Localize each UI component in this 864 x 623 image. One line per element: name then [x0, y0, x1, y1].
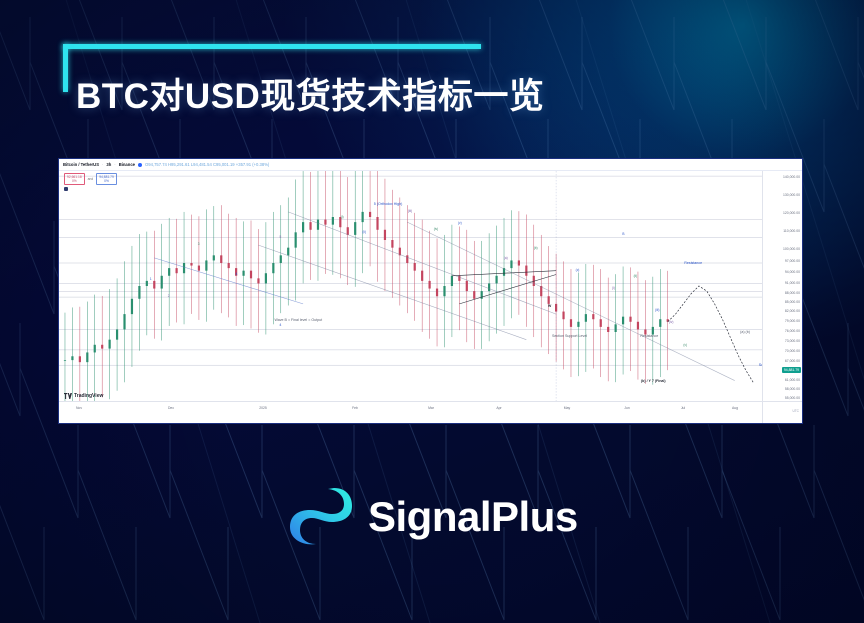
signalplus-logo-icon [288, 486, 354, 548]
time-tick: Dec [168, 406, 174, 410]
price-tick: 79,000.00 [785, 319, 800, 323]
price-tick: 82,000.00 [785, 309, 800, 313]
title-accent-vertical [63, 44, 68, 92]
price-tick: 91,000.00 [785, 281, 800, 285]
elliott-wave-label: (i) [612, 286, 615, 290]
price-tick: 140,000.00 [783, 175, 800, 179]
time-tick: Jun [624, 406, 629, 410]
price-tick: 58,000.00 [785, 387, 800, 391]
price-tick: 70,000.00 [785, 349, 800, 353]
elliott-wave-label: (iv) [434, 227, 438, 231]
time-tick: Jul [681, 406, 685, 410]
price-tick: 85,000.00 [785, 300, 800, 304]
chart-annotation: 5 (Orthodox High) [374, 202, 403, 206]
visibility-icon[interactable] [138, 163, 142, 167]
tradingview-chart-panel[interactable]: Bitcoin / TetherUS · 3h · Binance O94,75… [58, 158, 803, 424]
elliott-wave-label: 5 [279, 235, 281, 239]
price-tick: 76,000.00 [785, 329, 800, 333]
brand-logo-block: SignalPlus [288, 486, 578, 548]
time-scale[interactable]: NovDec2025FebMarAprMayJunJulAug [59, 401, 762, 423]
elliott-wave-label: 3 [198, 242, 200, 246]
chart-annotation: Wave B = Final level = Output [275, 318, 323, 322]
price-tick: 110,000.00 [783, 229, 800, 233]
elliott-wave-label: (v) [458, 221, 462, 225]
time-tick: Aug [732, 406, 738, 410]
elliott-wave-label: (a) [504, 256, 508, 260]
price-tick: 73,000.00 [785, 339, 800, 343]
elliott-wave-label: (iii) [408, 209, 412, 213]
elliott-wave-label: (iv) [669, 320, 673, 324]
chart-ohlc-values: O94,757.74 H95,291.61 L94,481.54 C95,001… [145, 162, 269, 167]
elliott-wave-label: 2 [168, 294, 170, 298]
chart-annotation: Resistance [640, 334, 658, 338]
elliott-wave-label: (b) [534, 246, 538, 250]
price-tick: 88,000.00 [785, 291, 800, 295]
chart-annotation: 4 [279, 323, 281, 327]
chart-annotation: (b) / Y 7 (Final) [641, 379, 666, 383]
elliott-wave-label: (c) [576, 268, 580, 272]
elliott-wave-label: 4 [236, 272, 238, 276]
chart-plot-svg [59, 171, 762, 401]
time-tick: May [564, 406, 570, 410]
price-tick: 120,000.00 [783, 211, 800, 215]
brand-name: SignalPlus [368, 493, 578, 541]
tradingview-watermark: TradingView [64, 393, 103, 399]
tradingview-logo-icon [64, 393, 72, 399]
chart-annotation: (a) (b) [740, 330, 750, 334]
header-separator-1: · [102, 162, 103, 167]
tradingview-watermark-text: TradingView [74, 393, 103, 399]
chart-annotation: W [548, 304, 551, 308]
chart-plot-area[interactable]: 5 (Orthodox High)Wave B = Final level = … [59, 171, 762, 401]
header-separator-2: · [114, 162, 115, 167]
time-tick: 2025 [259, 406, 267, 410]
chart-annotation: Section Support Level [552, 334, 587, 338]
elliott-wave-label: (i) [341, 215, 344, 219]
chart-header: Bitcoin / TetherUS · 3h · Binance O94,75… [59, 159, 802, 170]
elliott-wave-label: B [622, 232, 624, 236]
time-tick: Apr [496, 406, 501, 410]
title-accent-horizontal [63, 44, 481, 49]
price-scale[interactable]: 140,000.00130,000.00120,000.00110,000.00… [762, 171, 802, 401]
chart-annotation: Resistance [684, 261, 702, 265]
timezone-label: UTC [792, 409, 799, 413]
price-tick: 130,000.00 [783, 193, 800, 197]
price-tick: 67,000.00 [785, 359, 800, 363]
chart-exchange[interactable]: Binance [119, 162, 135, 167]
page-title: BTC对USD现货技术指标一览 [76, 68, 544, 119]
price-tick: 61,000.00 [785, 378, 800, 382]
price-badge-teal: 94,881.79 [782, 367, 801, 373]
elliott-wave-label: (ii) [362, 230, 366, 234]
price-tick: 97,000.00 [785, 259, 800, 263]
time-tick: Mar [428, 406, 434, 410]
elliott-wave-label: (iii) [655, 308, 659, 312]
chart-inner: Bitcoin / TetherUS · 3h · Binance O94,75… [59, 159, 802, 423]
elliott-wave-label: (ii) [634, 274, 638, 278]
chart-symbol[interactable]: Bitcoin / TetherUS [63, 162, 99, 167]
elliott-wave-label: 1 [150, 277, 152, 281]
timezone-corner[interactable]: UTC [762, 401, 802, 423]
price-tick: 100,000.00 [783, 247, 800, 251]
price-tick: 55,000.00 [785, 396, 800, 400]
time-tick: Feb [352, 406, 358, 410]
time-tick: Nov [76, 406, 82, 410]
price-tick: 94,000.00 [785, 270, 800, 274]
chart-interval[interactable]: 3h [106, 162, 111, 167]
elliott-wave-label: (v) [683, 343, 687, 347]
